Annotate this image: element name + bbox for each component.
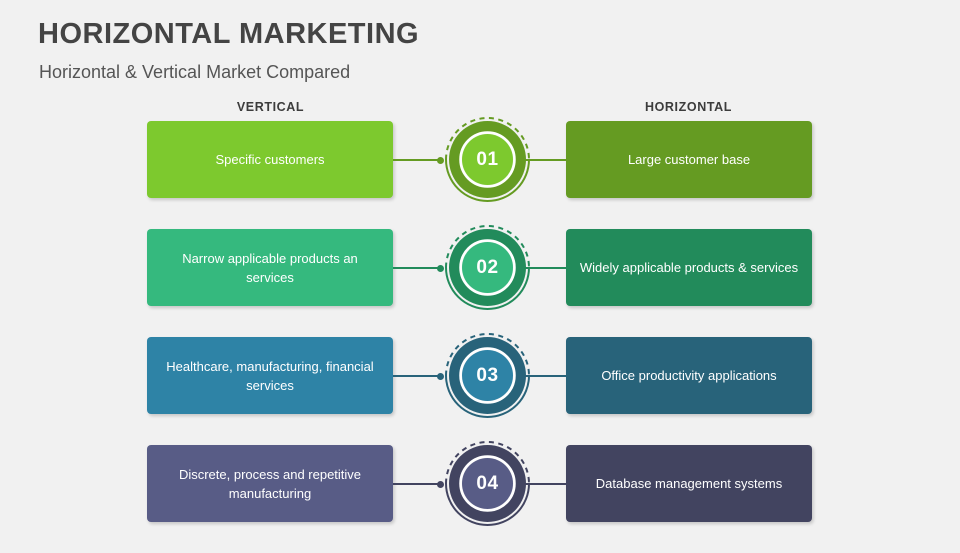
horizontal-card[interactable]: Large customer base (566, 121, 812, 198)
step-number: 02 (440, 220, 535, 315)
step-number: 03 (440, 328, 535, 423)
step-number: 04 (440, 436, 535, 531)
step-number: 01 (440, 112, 535, 207)
comparison-row: Healthcare, manufacturing, financial ser… (0, 337, 960, 445)
horizontal-card-label: Large customer base (628, 150, 750, 169)
step-badge[interactable]: 01 (440, 112, 535, 207)
horizontal-card[interactable]: Office productivity applications (566, 337, 812, 414)
vertical-card[interactable]: Narrow applicable products an services (147, 229, 393, 306)
connector-line-left (393, 483, 440, 485)
vertical-card-label: Discrete, process and repetitive manufac… (159, 465, 381, 503)
horizontal-card-label: Database management systems (596, 474, 782, 493)
connector-line-left (393, 375, 440, 377)
comparison-row: Narrow applicable products an servicesWi… (0, 229, 960, 337)
connector-line-left (393, 159, 440, 161)
horizontal-card-label: Office productivity applications (601, 366, 776, 385)
horizontal-card-label: Widely applicable products & services (580, 258, 798, 277)
step-badge[interactable]: 03 (440, 328, 535, 423)
vertical-card-label: Narrow applicable products an services (159, 249, 381, 287)
vertical-card[interactable]: Healthcare, manufacturing, financial ser… (147, 337, 393, 414)
horizontal-card[interactable]: Database management systems (566, 445, 812, 522)
vertical-card-label: Specific customers (215, 150, 324, 169)
step-badge[interactable]: 02 (440, 220, 535, 315)
vertical-card[interactable]: Discrete, process and repetitive manufac… (147, 445, 393, 522)
connector-line-left (393, 267, 440, 269)
step-badge[interactable]: 04 (440, 436, 535, 531)
comparison-row: Discrete, process and repetitive manufac… (0, 445, 960, 553)
vertical-card-label: Healthcare, manufacturing, financial ser… (159, 357, 381, 395)
vertical-card[interactable]: Specific customers (147, 121, 393, 198)
horizontal-card[interactable]: Widely applicable products & services (566, 229, 812, 306)
comparison-row: Specific customersLarge customer base01 (0, 121, 960, 229)
comparison-rows: Specific customersLarge customer base01N… (0, 0, 960, 540)
